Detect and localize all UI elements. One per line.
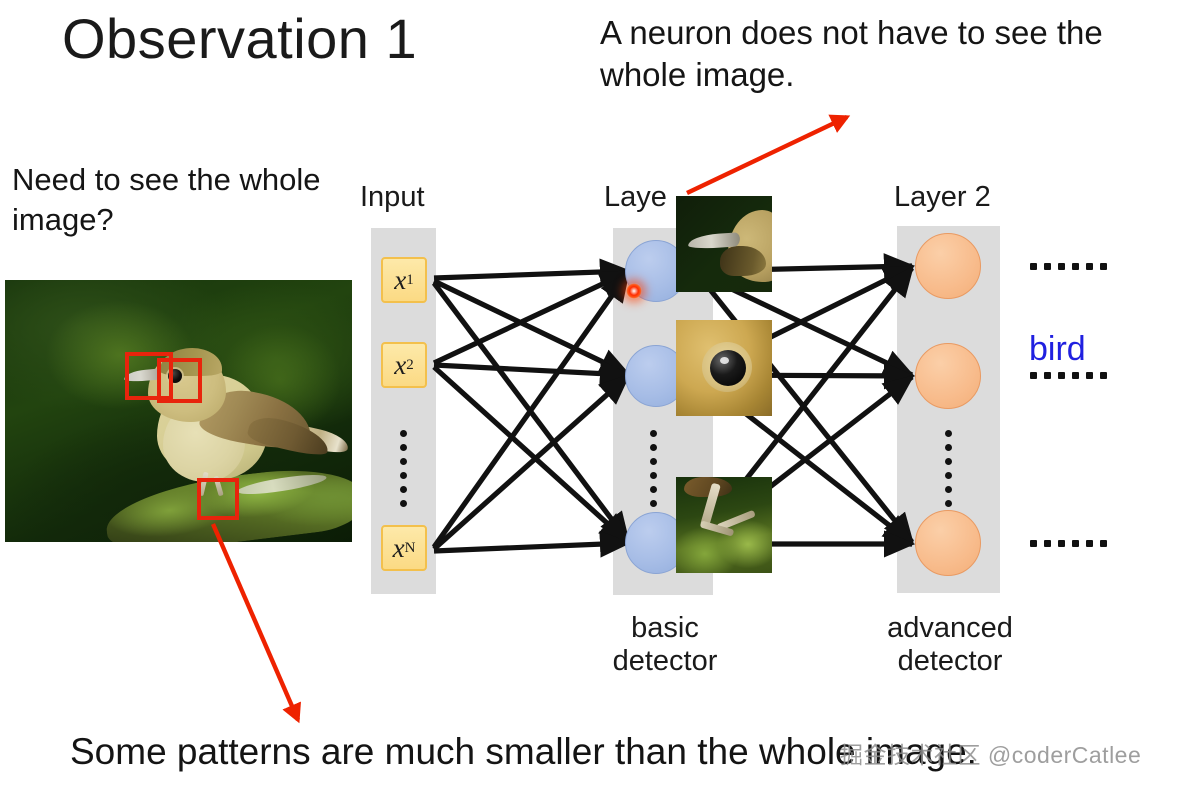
layer1-label: Laye <box>604 181 667 214</box>
input-node-x1-label: x <box>394 265 406 296</box>
highlight-box-claw <box>197 478 239 520</box>
layer1-caption: basic detector <box>570 612 760 679</box>
output-dots-row-3 <box>1030 540 1107 547</box>
bird-photograph <box>5 280 352 542</box>
bird-beak-patch <box>676 196 772 292</box>
layer1-neuron-1-active-marker-icon <box>626 283 642 299</box>
layer1-caption-line2: detector <box>570 645 760 678</box>
layer2-label: Layer 2 <box>894 181 991 214</box>
patch-beak-throat <box>720 246 766 276</box>
layer2-neuron-2[interactable] <box>915 343 981 409</box>
red-arrow-patch-to-callout <box>687 117 847 193</box>
input-node-x2[interactable]: x2 <box>381 342 427 388</box>
callout-left-text: Need to see the whole image? <box>12 160 352 239</box>
layer2-caption-line2: detector <box>855 645 1045 678</box>
input-node-x1-subscript: 1 <box>406 272 414 289</box>
input-node-xN-subscript: N <box>405 540 416 557</box>
layer2-caption: advanced detector <box>855 612 1045 679</box>
slide-canvas: Observation 1 A neuron does not have to … <box>0 0 1189 786</box>
page-title: Observation 1 <box>62 8 417 70</box>
layer1-caption-line1: basic <box>570 612 760 645</box>
input-layer-label: Input <box>360 181 425 214</box>
bird-claw-patch <box>676 477 772 573</box>
bird-eye-patch <box>676 320 772 416</box>
layer2-neuron-3[interactable] <box>915 510 981 576</box>
input-node-x2-subscript: 2 <box>406 357 414 374</box>
input-node-x1[interactable]: x1 <box>381 257 427 303</box>
input-layer-ellipsis-icon <box>400 430 407 507</box>
layer2-neuron-1[interactable] <box>915 233 981 299</box>
patch-eye-pupil <box>710 350 746 386</box>
input-node-xN-label: x <box>393 533 405 564</box>
patch-eye-glint <box>720 357 729 364</box>
watermark-text: 掘金技术社区 @coderCatlee <box>840 736 1141 770</box>
input-node-x2-label: x <box>394 350 406 381</box>
layer1-ellipsis-icon <box>650 430 657 507</box>
output-class-label: bird <box>1029 330 1086 369</box>
layer2-caption-line1: advanced <box>855 612 1045 645</box>
callout-top-text: A neuron does not have to see the whole … <box>600 12 1160 96</box>
input-node-xN[interactable]: xN <box>381 525 427 571</box>
layer2-ellipsis-icon <box>945 430 952 507</box>
highlight-box-eye <box>157 358 202 403</box>
output-dots-row-1 <box>1030 263 1107 270</box>
red-arrow-photo-to-statement <box>213 524 298 720</box>
output-dots-row-2 <box>1030 372 1107 379</box>
